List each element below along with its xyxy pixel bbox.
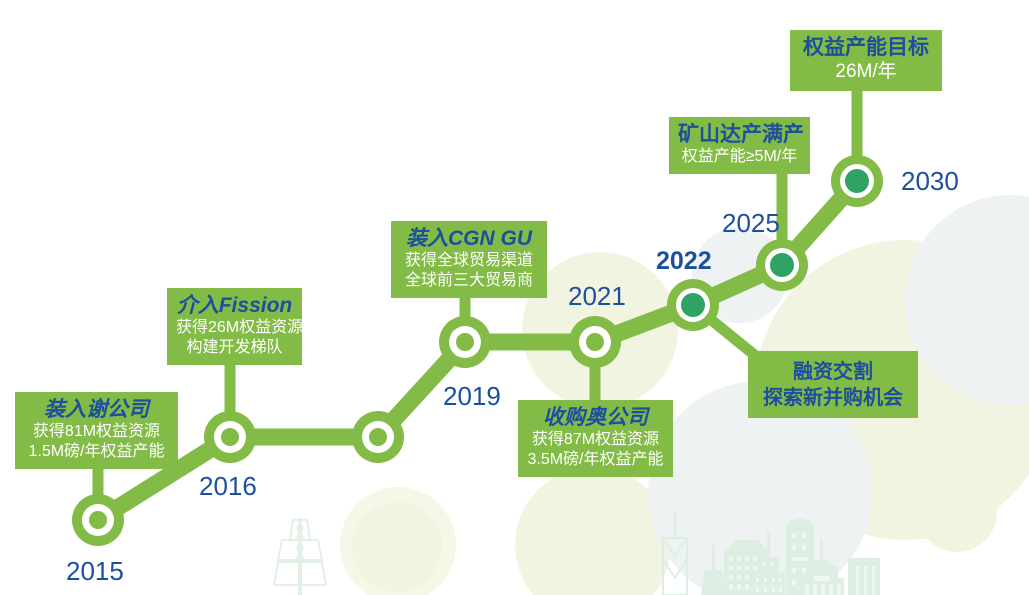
node-2021[interactable] [569, 316, 621, 368]
timeline-infographic: 2015 2016 2019 2021 2022 2025 2030 装入谢公司… [0, 0, 1029, 595]
milestone-card-2021-line-2: 3.5M磅/年权益产能 [527, 450, 664, 470]
milestone-card-2015-line-1: 获得81M权益资源 [24, 422, 169, 442]
milestone-card-2025[interactable]: 矿山达产满产 权益产能≥5M/年 [669, 117, 810, 174]
node-2015[interactable] [72, 494, 124, 546]
milestone-card-2021[interactable]: 收购奥公司 获得87M权益资源 3.5M磅/年权益产能 [518, 400, 673, 477]
milestone-card-2016[interactable]: 介入Fission 获得26M权益资源 构建开发梯队 [167, 288, 302, 365]
milestone-card-2025-line-1: 权益产能≥5M/年 [678, 147, 801, 167]
year-label-2019: 2019 [443, 383, 501, 409]
year-label-2021: 2021 [568, 283, 626, 309]
milestone-card-2016-title: 介入Fission [176, 293, 293, 318]
milestone-card-2021-line-1: 获得87M权益资源 [527, 430, 664, 450]
year-label-2030: 2030 [901, 168, 959, 194]
milestone-card-2015[interactable]: 装入谢公司 获得81M权益资源 1.5M磅/年权益产能 [15, 392, 178, 469]
milestone-card-2030-line-1: 26M/年 [799, 60, 933, 83]
milestone-card-2030[interactable]: 权益产能目标 26M/年 [790, 30, 942, 91]
milestone-card-2030-title: 权益产能目标 [799, 35, 933, 60]
milestone-card-2022-line-2: 探索新并购机会 [757, 385, 909, 411]
node-mid-2017[interactable] [352, 411, 404, 463]
milestone-card-2022-line-1: 融资交割 [757, 359, 909, 385]
milestone-card-2015-title: 装入谢公司 [24, 397, 169, 422]
milestone-card-2019-line-2: 全球前三大贸易商 [400, 271, 538, 291]
milestone-card-2019-line-1: 获得全球贸易渠道 [400, 251, 538, 271]
milestone-card-2019[interactable]: 装入CGN GU 获得全球贸易渠道 全球前三大贸易商 [391, 221, 547, 298]
year-label-2022: 2022 [656, 249, 712, 274]
year-label-2025: 2025 [722, 210, 780, 236]
milestone-card-2015-line-2: 1.5M磅/年权益产能 [24, 442, 169, 462]
node-2016[interactable] [204, 411, 256, 463]
node-2022[interactable] [667, 279, 719, 331]
node-2019[interactable] [439, 316, 491, 368]
milestone-card-2021-title: 收购奥公司 [527, 405, 664, 430]
milestone-card-2019-title: 装入CGN GU [400, 226, 538, 251]
node-2030[interactable] [831, 155, 883, 207]
milestone-card-2016-line-2: 构建开发梯队 [176, 338, 293, 358]
year-label-2015: 2015 [66, 558, 124, 584]
milestone-card-2025-title: 矿山达产满产 [678, 122, 801, 147]
year-label-2016: 2016 [199, 473, 257, 499]
milestone-card-2022[interactable]: 融资交割 探索新并购机会 [748, 351, 918, 418]
node-2025[interactable] [756, 239, 808, 291]
milestone-card-2016-line-1: 获得26M权益资源 [176, 318, 293, 338]
